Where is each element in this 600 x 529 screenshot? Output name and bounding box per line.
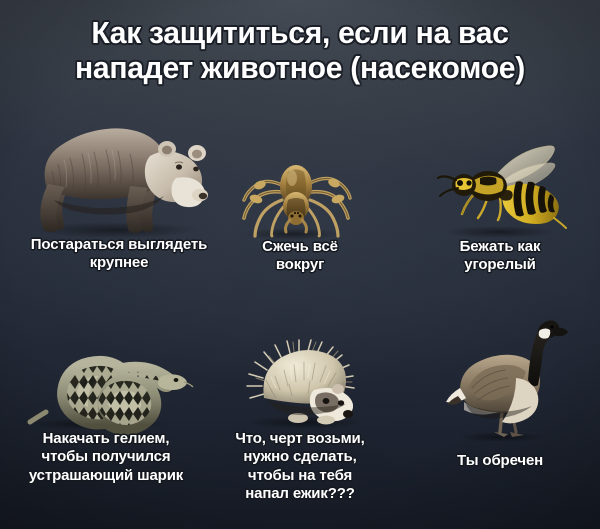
snake-image (16, 326, 188, 426)
caption-snake-line-1: Накачать гелием, (43, 430, 170, 447)
caption-bear-line-2: крупнее (90, 254, 149, 271)
caption-snake: Накачать гелием, чтобы получился устраша… (0, 430, 212, 485)
caption-hedgehog-line-4: напал ежик??? (245, 485, 355, 502)
caption-hedgehog-line-1: Что, черт возьми, (235, 430, 364, 447)
wasp-image (424, 142, 574, 234)
caption-wasp: Бежать как угорелый (420, 238, 580, 275)
caption-wasp-line-1: Бежать как (460, 238, 541, 255)
caption-hedgehog: Что, черт возьми, нужно сделать, чтобы н… (212, 430, 388, 503)
caption-spider-line-1: Сжечь всё (262, 238, 338, 255)
caption-spider-line-2: вокруг (276, 256, 324, 273)
meme-title: Как защититься, если на вас нападет живо… (9, 16, 591, 85)
caption-spider: Сжечь всё вокруг (222, 238, 378, 275)
goose-image (446, 308, 566, 438)
spider-image (232, 152, 352, 236)
meme-image: Как защититься, если на вас нападет живо… (0, 0, 600, 529)
caption-snake-line-3: устрашающий шарик (29, 467, 183, 484)
bear-image (24, 116, 212, 230)
hedgehog-image (242, 340, 368, 426)
meme-title-line-1: Как защититься, если на вас (9, 16, 591, 51)
caption-bear: Постараться выглядеть крупнее (0, 236, 238, 273)
caption-hedgehog-line-3: чтобы на тебя (248, 467, 352, 484)
caption-goose: Ты обречен (400, 452, 600, 470)
caption-goose-line-1: Ты обречен (457, 452, 543, 469)
meme-title-line-2: нападет животное (насекомое) (9, 51, 591, 86)
caption-wasp-line-2: угорелый (464, 256, 535, 273)
caption-snake-line-2: чтобы получился (42, 448, 171, 465)
caption-bear-line-1: Постараться выглядеть (31, 236, 207, 253)
caption-hedgehog-line-2: нужно сделать, (243, 448, 356, 465)
